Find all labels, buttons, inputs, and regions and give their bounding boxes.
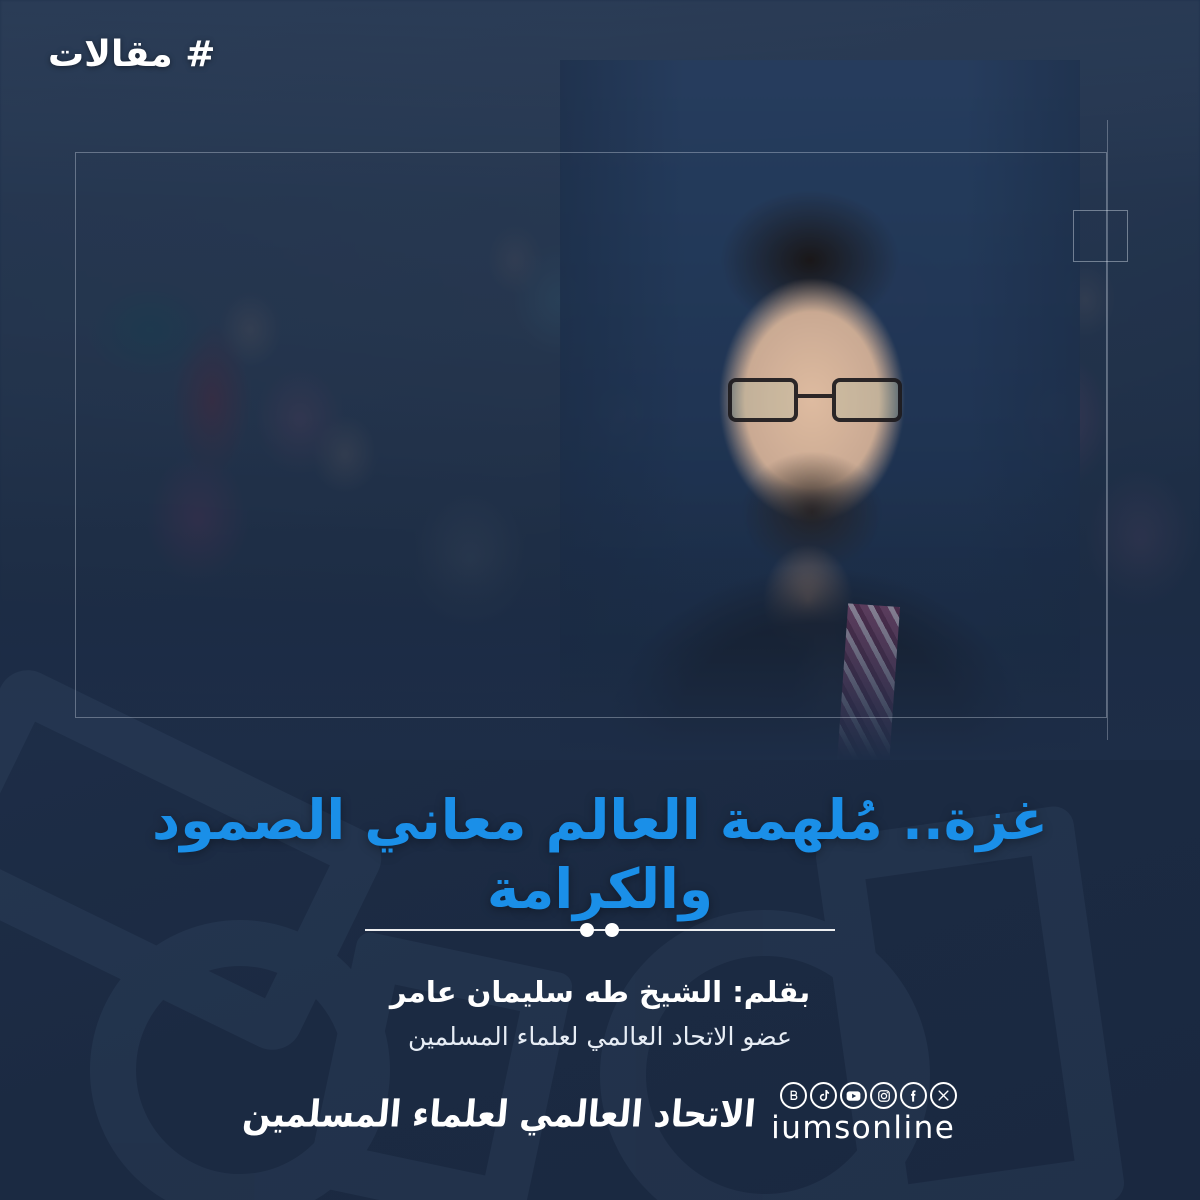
watermark-shape	[600, 910, 930, 1200]
brand-footer: الاتحاد العالمي لعلماء المسلمين	[0, 1082, 1200, 1144]
divider-rule	[365, 929, 835, 931]
instagram-icon[interactable]	[870, 1082, 897, 1109]
section-divider	[365, 921, 835, 939]
tiktok-icon[interactable]	[810, 1082, 837, 1109]
iums-calligraphy-logo: الاتحاد العالمي لعلماء المسلمين	[241, 1095, 757, 1132]
divider-dot	[580, 923, 594, 937]
watermark-shape	[90, 920, 390, 1200]
author-role: عضو الاتحاد العالمي لعلماء المسلمين	[0, 1022, 1200, 1051]
x-icon[interactable]	[930, 1082, 957, 1109]
divider-dot	[605, 923, 619, 937]
category-hashtag[interactable]: # مقالات	[48, 34, 215, 75]
decorative-square	[1073, 210, 1128, 262]
author-byline: بقلم: الشيخ طه سليمان عامر	[0, 975, 1200, 1009]
facebook-icon[interactable]	[900, 1082, 927, 1109]
bluesky-icon[interactable]	[780, 1082, 807, 1109]
watermark-shape	[305, 930, 574, 1200]
portrait-blend-overlay	[560, 60, 1080, 760]
brand-handle-block: iumsonline	[771, 1082, 957, 1144]
article-poster: # مقالات غزة.. مُلهمة العالم معاني الصمو…	[0, 0, 1200, 1200]
brand-handle-text[interactable]: iumsonline	[771, 1113, 957, 1144]
youtube-icon[interactable]	[840, 1082, 867, 1109]
author-portrait	[560, 60, 1080, 760]
social-links-row	[780, 1082, 957, 1109]
page-title: غزة.. مُلهمة العالم معاني الصمود والكرام…	[60, 786, 1140, 924]
